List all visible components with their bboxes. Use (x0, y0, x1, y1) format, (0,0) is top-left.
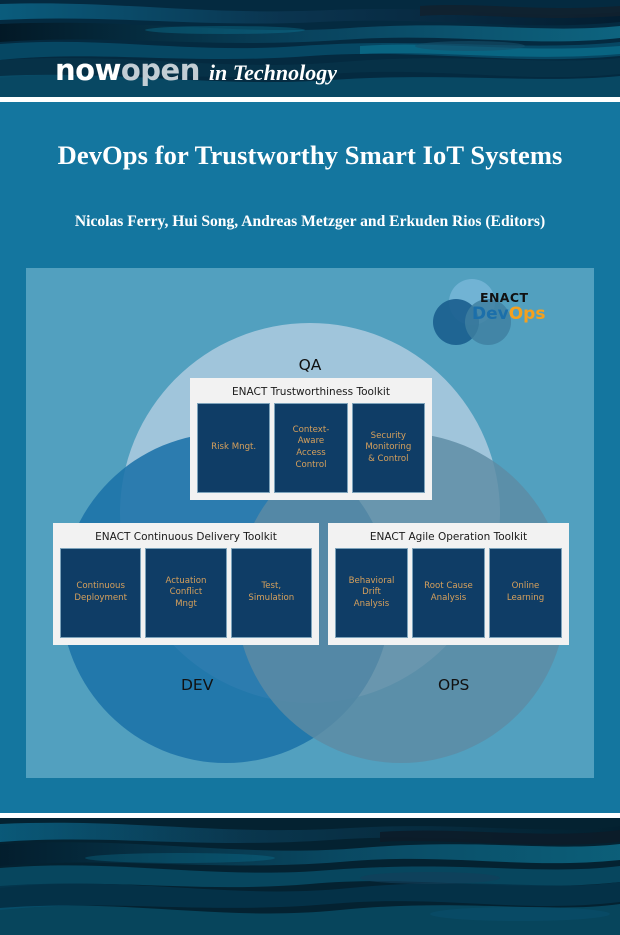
toolkit-cell-label: OnlineLearning (507, 581, 544, 604)
water-texture-bottom (0, 818, 620, 935)
toolkit-cell-label: Root CauseAnalysis (424, 581, 473, 604)
toolkit-cell[interactable]: ActuationConflictMngt (145, 548, 226, 638)
venn-label-ops: OPS (438, 676, 469, 694)
toolkit-cell[interactable]: Test,Simulation (231, 548, 312, 638)
toolkit-cell-label: Context-AwareAccessControl (293, 425, 330, 471)
toolkit-cell-label: BehavioralDriftAnalysis (349, 576, 395, 611)
logo-now-text: now (55, 56, 121, 85)
venn-label-dev: DEV (181, 676, 213, 694)
toolkit-cell[interactable]: Risk Mngt. (197, 403, 270, 493)
toolkit-cell[interactable]: BehavioralDriftAnalysis (335, 548, 408, 638)
enact-devops-logo: ENACT DevOps (426, 278, 586, 346)
enact-logo-dev-text: Dev (472, 304, 509, 324)
venn-label-qa: QA (26, 356, 594, 374)
toolkit-cell-row: Risk Mngt. Context-AwareAccessControl Se… (197, 403, 425, 493)
title-block: DevOps for Trustworthy Smart IoT Systems… (0, 140, 620, 231)
logo-open-text: open (121, 56, 200, 85)
toolkit-cell-label: SecurityMonitoring& Control (365, 431, 411, 466)
toolkit-cell-label: Risk Mngt. (211, 442, 256, 454)
toolkit-title: ENACT Continuous Delivery Toolkit (60, 529, 312, 548)
toolkit-trustworthiness[interactable]: ENACT Trustworthiness Toolkit Risk Mngt.… (190, 378, 432, 500)
toolkit-agile-operation[interactable]: ENACT Agile Operation Toolkit Behavioral… (328, 523, 569, 645)
toolkit-title: ENACT Agile Operation Toolkit (335, 529, 562, 548)
toolkit-cell[interactable]: OnlineLearning (489, 548, 562, 638)
enact-logo-devops-text: DevOps (472, 306, 545, 323)
page-title: DevOps for Trustworthy Smart IoT Systems (0, 140, 620, 171)
toolkit-cell[interactable]: Context-AwareAccessControl (274, 403, 347, 493)
toolkit-cell-label: Test,Simulation (248, 581, 294, 604)
toolkit-continuous-delivery[interactable]: ENACT Continuous Delivery Toolkit Contin… (53, 523, 319, 645)
toolkit-cell-label: ContinuousDeployment (74, 581, 127, 604)
publisher-logo-top[interactable]: now open in Technology (55, 56, 337, 85)
toolkit-cell-row: ContinuousDeployment ActuationConflictMn… (60, 548, 312, 638)
toolkit-title: ENACT Trustworthiness Toolkit (197, 384, 425, 403)
toolkit-cell[interactable]: ContinuousDeployment (60, 548, 141, 638)
bottom-water-banner: now (0, 818, 620, 935)
book-authors: Nicolas Ferry, Hui Song, Andreas Metzger… (0, 213, 620, 231)
enact-logo-wordmark: ENACT DevOps (480, 292, 545, 323)
toolkit-cell-label: ActuationConflictMngt (165, 576, 206, 611)
top-water-banner: now open in Technology (0, 0, 620, 97)
enact-logo-ops-text: Ops (509, 304, 546, 324)
logo-series-text: in Technology (209, 62, 337, 84)
toolkit-cell[interactable]: Root CauseAnalysis (412, 548, 485, 638)
toolkit-cell[interactable]: SecurityMonitoring& Control (352, 403, 425, 493)
toolkit-cell-row: BehavioralDriftAnalysis Root CauseAnalys… (335, 548, 562, 638)
venn-diagram-panel: QA DEV OPS ENACT DevOps ENACT Trustworth… (26, 268, 594, 778)
